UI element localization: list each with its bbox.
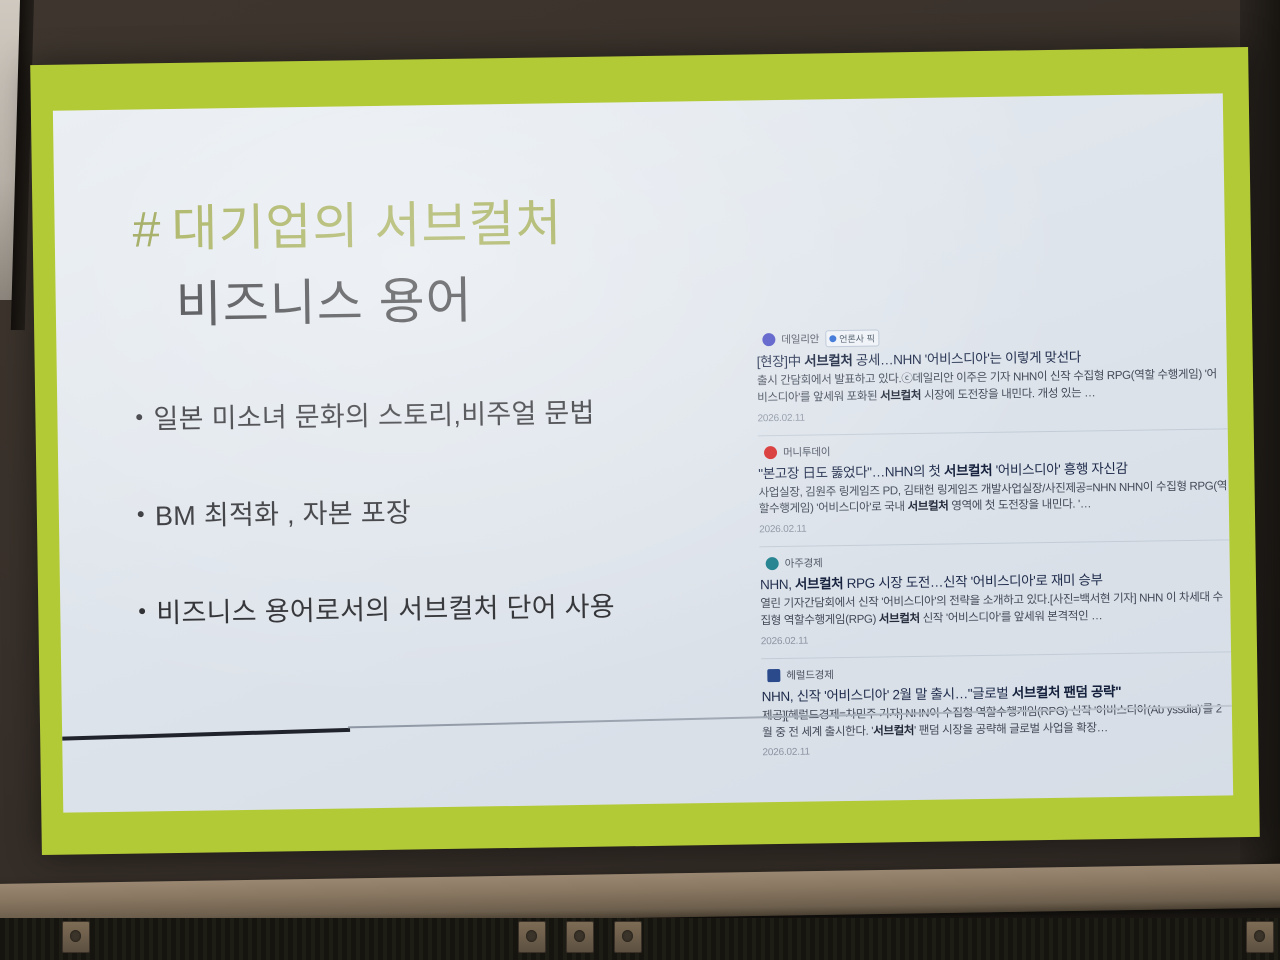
headline-keyword: 서브컬처 — [804, 353, 852, 369]
headline-part: 공세…NHN '어비스디아'는 이렇게 맞선다 — [852, 350, 1081, 368]
news-source-name: 아주경제 — [785, 556, 823, 572]
bullet-list: • 일본 미소녀 문화의 스토리,비주얼 문법 • BM 최적화 , 자본 포장… — [135, 388, 758, 630]
news-date: 2026.02.11 — [762, 741, 1232, 759]
cable-shadow-left — [62, 728, 350, 741]
news-article-item[interactable]: 아주경제 NHN, 서브컬처 RPG 시장 도전…신작 '어비스디아'로 재미 … — [759, 540, 1231, 659]
room-photo: #대기업의 서브컬처 비즈니스 용어 • 일본 미소녀 문화의 스토리,비주얼 … — [0, 0, 1280, 960]
headline-part: NHN, 신작 '어비스디아' 2월 말 출시…"글로벌 — [762, 685, 1012, 704]
news-source-row: 머니투데이 — [764, 438, 1228, 460]
wall-outlet-icon — [614, 921, 642, 953]
news-summary: 출시 간담회에서 발표하고 있다.ⓒ데일리안 이주은 기자 NHN이 신작 수집… — [757, 367, 1227, 407]
wall-outlet-icon — [518, 921, 546, 953]
news-source-logo-icon — [764, 446, 777, 459]
presentation-slide: #대기업의 서브컬처 비즈니스 용어 • 일본 미소녀 문화의 스토리,비주얼 … — [53, 93, 1233, 812]
page-title-line-1: #대기업의 서브컬처 — [132, 180, 753, 261]
summary-part: ' 팬덤 시장을 공략해 글로벌 사업을 확장… — [914, 722, 1108, 737]
summary-keyword: 서브컬처 — [907, 501, 948, 514]
news-date: 2026.02.11 — [761, 629, 1231, 647]
press-pick-label: 언론사 픽 — [839, 332, 875, 346]
news-source-row: 헤럴드경제 — [767, 661, 1231, 683]
bullet-dot-icon: • — [138, 600, 146, 622]
news-source-logo-icon — [762, 333, 775, 346]
news-source-name: 데일리안 — [781, 331, 819, 347]
press-pick-badge: 언론사 픽 — [825, 330, 880, 348]
news-summary: 열린 기자간담회에서 신작 '어비스디아'의 전략을 소개하고 있다.[사진=백… — [760, 590, 1230, 630]
news-article-item[interactable]: 머니투데이 "본고장 日도 뚫었다"…NHN의 첫 서브컬처 '어비스디아' 흥… — [758, 429, 1230, 548]
summary-part: 제공][헤럴드경제=차민주 기자] NHN이 수집형 역할수행게임(RPG) 신… — [762, 704, 1164, 722]
news-source-logo-icon — [767, 669, 780, 682]
headline-part: NHN, — [760, 577, 795, 593]
summary-keyword: 서브컬처 — [880, 390, 921, 403]
bullet-label: 일본 미소녀 문화의 스토리,비주얼 문법 — [153, 391, 595, 437]
summary-part: 출시 간담회에서 발표하고 있다.ⓒ데일리안 이주은 기자 NHN이 신작 수집… — [757, 370, 1155, 388]
news-search-results: 데일리안 언론사 픽 [현장]中 서브컬처 공세…NHN '어비스디아'는 이렇… — [756, 315, 1233, 769]
wall-outlet-icon — [62, 921, 90, 953]
news-source-row: 데일리안 언론사 픽 — [762, 324, 1226, 348]
slide-left-column: #대기업의 서브컬처 비즈니스 용어 • 일본 미소녀 문화의 스토리,비주얼 … — [132, 180, 759, 688]
list-item: • 일본 미소녀 문화의 스토리,비주얼 문법 — [135, 388, 756, 436]
list-item: • 비즈니스 용어로서의 서브컬처 단어 사용 — [138, 582, 759, 630]
news-article-item[interactable]: 데일리안 언론사 픽 [현장]中 서브컬처 공세…NHN '어비스디아'는 이렇… — [756, 315, 1228, 436]
check-circle-icon — [829, 335, 836, 342]
page-title-line-2: 비즈니스 용어 — [175, 256, 754, 337]
headline-part: '어비스디아' 흥행 자신감 — [992, 460, 1128, 477]
summary-part: 신작 '어비스디아'를 앞세워 본격적인 … — [920, 610, 1103, 625]
news-source-name: 머니투데이 — [783, 444, 831, 460]
news-summary: 사업실장, 김원주 링게임즈 PD, 김태헌 링게임즈 개발사업실장/사진제공=… — [759, 478, 1229, 518]
bullet-label: BM 최적화 , 자본 포장 — [155, 490, 412, 533]
wall-outlet-icon — [566, 921, 594, 953]
news-date: 2026.02.11 — [759, 517, 1229, 535]
news-date: 2026.02.11 — [757, 406, 1227, 424]
summary-keyword: 서브컬처 — [873, 725, 914, 738]
summary-part: 영역에 첫 도전장을 내민다. '… — [948, 499, 1091, 513]
headline-keyword: 서브컬처 — [944, 462, 992, 478]
news-source-name: 헤럴드경제 — [786, 667, 834, 683]
headline-part: "본고장 日도 뚫었다"…NHN의 첫 — [758, 463, 944, 481]
summary-part: 시장에 도전장을 내민다. 개성 있는 … — [921, 387, 1095, 402]
list-item: • BM 최적화 , 자본 포장 — [137, 485, 758, 533]
headline-part: [현장]中 — [757, 354, 805, 370]
bullet-label: 비즈니스 용어로서의 서브컬처 단어 사용 — [156, 584, 615, 630]
projection-screen: #대기업의 서브컬처 비즈니스 용어 • 일본 미소녀 문화의 스토리,비주얼 … — [30, 47, 1260, 855]
headline-keyword: 서브컬처 — [795, 576, 843, 592]
wall-outlet-icon — [1246, 921, 1274, 953]
hash-icon: # — [132, 201, 162, 257]
headline-keyword: 서브컬처 팬덤 공략" — [1012, 684, 1122, 701]
headline-part: RPG 시장 도전…신작 '어비스디아'로 재미 승부 — [843, 572, 1103, 591]
news-source-row: 아주경제 — [766, 549, 1230, 571]
title-text-primary: 대기업의 서브컬처 — [171, 195, 563, 257]
summary-part: 열린 기자간담회에서 신작 '어비스디아'의 전략을 소개하고 있다.[사진=백… — [760, 593, 1163, 611]
summary-part: 사업실장, 김원주 링게임즈 PD, 김태헌 링게임즈 개발사업실장/사진제공=… — [759, 481, 1154, 499]
bullet-dot-icon: • — [135, 406, 143, 428]
summary-keyword: 서브컬처 — [879, 613, 920, 626]
news-source-logo-icon — [766, 557, 779, 570]
bullet-dot-icon: • — [137, 503, 145, 525]
